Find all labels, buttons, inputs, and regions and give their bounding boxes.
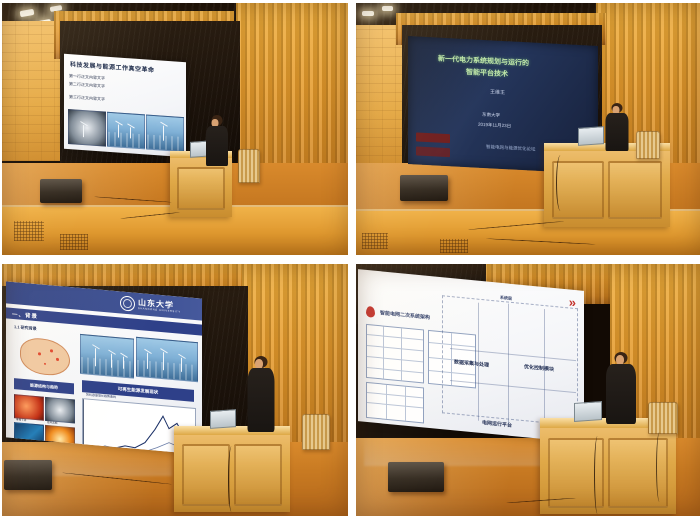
slide-title-line1: 新一代电力系统规划与运行的 — [438, 54, 529, 69]
cable — [228, 446, 235, 512]
wind-turbine-icon — [163, 126, 164, 141]
slide-title-line2: 智能平台技术 — [466, 67, 508, 79]
slide-affiliation: 东南大学 — [482, 112, 500, 119]
table-row — [367, 367, 423, 373]
slide-logo-left — [416, 132, 450, 143]
wind-turbine-icon — [163, 352, 164, 370]
seated-speaker — [604, 103, 630, 151]
table-col — [386, 385, 387, 419]
thumbnail-caption: 等离子体 — [16, 417, 26, 422]
wind-turbine-icon — [130, 127, 131, 138]
slide-title: 科技发展与能源工作真空革命 — [70, 59, 155, 74]
chair — [648, 402, 678, 434]
cable — [556, 155, 565, 211]
wind-turbine-icon — [147, 353, 148, 369]
table-row — [367, 392, 423, 398]
laptop — [574, 401, 602, 422]
slide-logo-left — [416, 146, 450, 157]
cable — [594, 436, 601, 514]
map-marker — [38, 352, 41, 355]
podium-panel — [234, 444, 282, 506]
floor-monitor-speaker — [4, 460, 52, 490]
laptop — [578, 126, 604, 146]
panel-top-right: 新一代电力系统规划与运行的 智能平台技术 王维王 东南大学 2019年11月23… — [356, 3, 700, 255]
wind-turbine-icon — [123, 357, 124, 369]
presenter-body — [206, 126, 228, 166]
floor-monitor-speaker — [388, 462, 444, 492]
laptop — [210, 409, 236, 429]
table-col — [405, 387, 406, 421]
table-row — [367, 356, 423, 362]
diagram-label-top: 系统层 — [500, 295, 512, 302]
panel-bottom-right: » 智能电网二次系统架构 — [356, 264, 700, 516]
projection-screen: 山东大学 SHANDONG UNIVERSITY 一、背景 1.1 研究背景 — [6, 281, 202, 454]
data-table — [366, 324, 424, 384]
apron-vent — [14, 221, 44, 241]
slide-body-line: 第三行正文内容文字 — [69, 94, 105, 103]
podium-panel — [177, 167, 225, 210]
wind-turbine-icon — [95, 348, 96, 366]
seated-presenter — [204, 115, 230, 167]
projection-screen: 科技发展与能源工作真空革命 第一行正文内容文字 第二行正文内容文字 第三行正文内… — [64, 54, 186, 158]
wind-turbine-icon — [111, 354, 112, 368]
chair — [238, 149, 260, 183]
slide-body-line: 第二行正文内容文字 — [69, 81, 105, 90]
slide-photo — [68, 109, 106, 147]
podium-panel — [182, 444, 230, 506]
ceiling-lamp — [382, 6, 393, 11]
table-row — [367, 402, 423, 408]
presenter-body — [248, 368, 275, 432]
photo-collage: 科技发展与能源工作真空革命 第一行正文内容文字 第二行正文内容文字 第三行正文内… — [0, 0, 700, 519]
table-col — [401, 328, 402, 380]
projection-screen: » 智能电网二次系统架构 — [358, 269, 584, 443]
slide-body-line: 第一行正文内容文字 — [69, 73, 105, 82]
podium-panel — [608, 161, 662, 219]
chair — [636, 131, 660, 159]
diagram-divider — [508, 304, 509, 424]
cable — [656, 432, 663, 502]
standing-presenter — [246, 356, 276, 432]
map-shape — [20, 337, 70, 377]
slide-presenter: 王维王 — [490, 88, 505, 96]
slide-photo — [107, 112, 145, 150]
speaker-body — [606, 113, 629, 151]
standing-speaker — [604, 352, 638, 424]
slide-bullet: 1.1 研究背景 — [14, 324, 37, 332]
table-row — [367, 334, 423, 340]
slide-date: 2019年11月23日 — [478, 122, 511, 130]
panel-top-left: 科技发展与能源工作真空革命 第一行正文内容文字 第二行正文内容文字 第三行正文内… — [2, 3, 348, 255]
slide-footer: 智能电网与能源优化论坛 — [486, 144, 536, 153]
thumbnail-caption: 台风云图 — [47, 420, 57, 425]
wind-farm-photo — [136, 337, 198, 382]
slide-logo-icon — [366, 306, 375, 318]
speaker-body — [606, 364, 636, 424]
ceiling-lamp — [362, 11, 374, 16]
wind-turbine-icon — [118, 125, 119, 138]
apron-vent — [440, 239, 468, 253]
slide-photo — [146, 114, 184, 152]
floor-monitor-speaker — [40, 179, 82, 203]
university-emblem-icon — [120, 295, 135, 311]
apron-vent — [362, 233, 388, 249]
chair — [302, 414, 330, 450]
data-table — [366, 382, 424, 424]
china-map — [16, 332, 74, 381]
map-marker — [56, 358, 59, 361]
floor-monitor-speaker — [400, 175, 448, 201]
map-marker — [44, 363, 46, 365]
slide-title: 智能电网二次系统架构 — [380, 309, 430, 321]
wind-turbine-icon — [83, 125, 84, 137]
panel-bottom-left: 山东大学 SHANDONG UNIVERSITY 一、背景 1.1 研究背景 — [2, 264, 348, 516]
apron-vent — [60, 234, 88, 250]
table-col — [383, 327, 384, 379]
diagram-label-bottom: 电网运行平台 — [482, 419, 512, 429]
wind-farm-photo — [80, 334, 134, 379]
map-marker — [50, 349, 53, 352]
table-row — [367, 345, 423, 351]
wind-turbine-icon — [181, 358, 182, 372]
